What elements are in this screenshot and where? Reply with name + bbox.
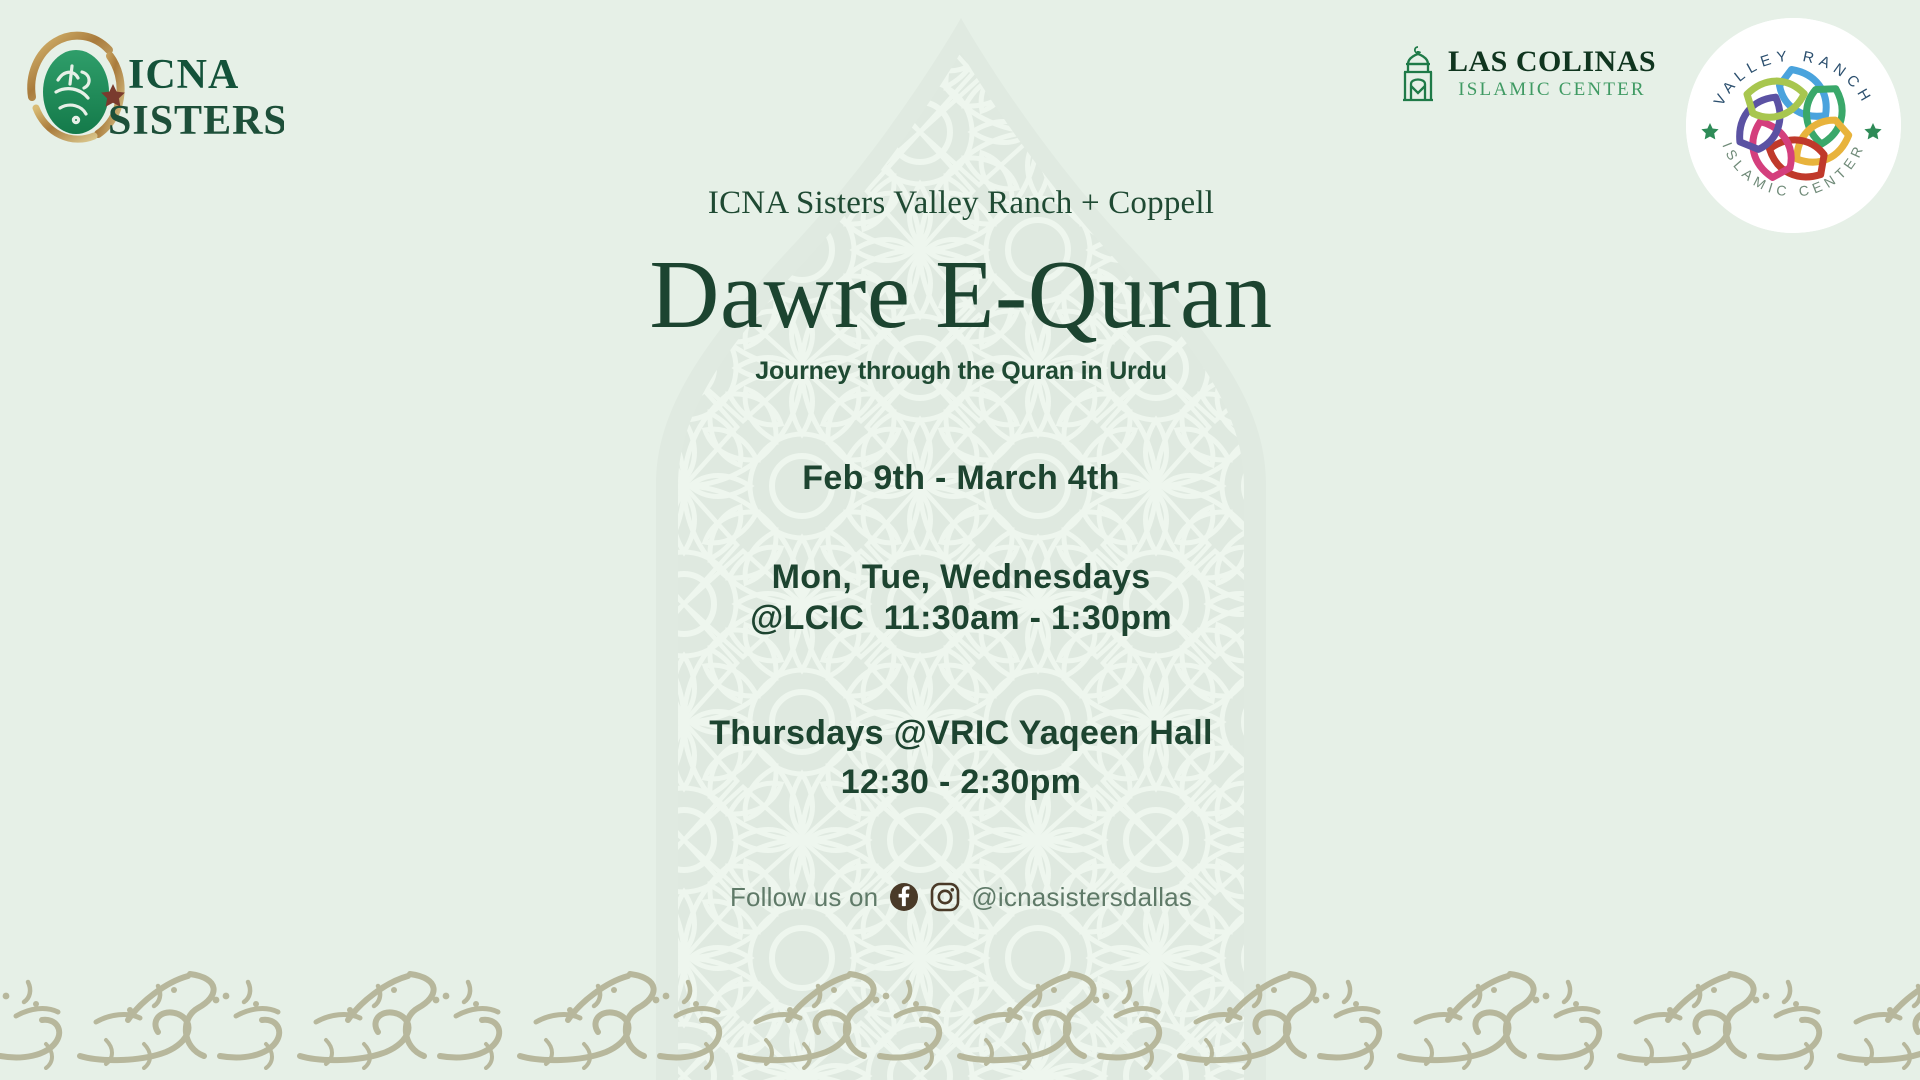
facebook-icon[interactable]: [889, 882, 919, 912]
page-subtitle: Journey through the Quran in Urdu: [566, 357, 1356, 386]
icna-sisters-logo: ICNA SISTERS: [14, 22, 284, 152]
schedule-location-time-1: @LCIC 11:30am - 1:30pm: [566, 598, 1356, 639]
schedule-days-1: Mon, Tue, Wednesdays: [772, 558, 1151, 596]
follow-us-row: Follow us on @icnasistersdallas: [566, 882, 1356, 913]
lcic-name: LAS COLINAS: [1448, 47, 1656, 77]
ramadan-kareem-calligraphy-band: [0, 950, 1920, 1080]
follow-us-label: Follow us on: [730, 882, 878, 913]
schedule-item-2: Thursdays @VRIC Yaqeen Hall 12:30 - 2:30…: [566, 713, 1356, 804]
event-date-range: Feb 9th - March 4th: [566, 459, 1356, 498]
svg-text:ICNA: ICNA: [128, 52, 239, 98]
mosque-icon: [1398, 42, 1438, 104]
organization-line: ICNA Sisters Valley Ranch + Coppell: [566, 185, 1356, 222]
flyer-canvas: ICNA SISTERS LAS COLINAS ISLAMIC CENTER: [0, 0, 1920, 1080]
page-title: Dawre E-Quran: [566, 246, 1356, 345]
schedule-days-2: Thursdays @VRIC Yaqeen Hall: [709, 714, 1213, 752]
lcic-subtitle: ISLAMIC CENTER: [1458, 80, 1646, 99]
svg-text:SISTERS: SISTERS: [108, 98, 284, 144]
social-handle[interactable]: @icnasistersdallas: [971, 882, 1192, 913]
main-content: ICNA Sisters Valley Ranch + Coppell Dawr…: [566, 0, 1356, 913]
las-colinas-islamic-center-logo: LAS COLINAS ISLAMIC CENTER: [1398, 42, 1656, 104]
schedule-location-time-2: 12:30 - 2:30pm: [566, 762, 1356, 803]
valley-ranch-islamic-center-logo: VALLEY RANCH ISLAMIC CENTER: [1686, 18, 1901, 233]
instagram-icon[interactable]: [930, 882, 960, 912]
schedule-item-1: Mon, Tue, Wednesdays @LCIC 11:30am - 1:3…: [566, 557, 1356, 640]
